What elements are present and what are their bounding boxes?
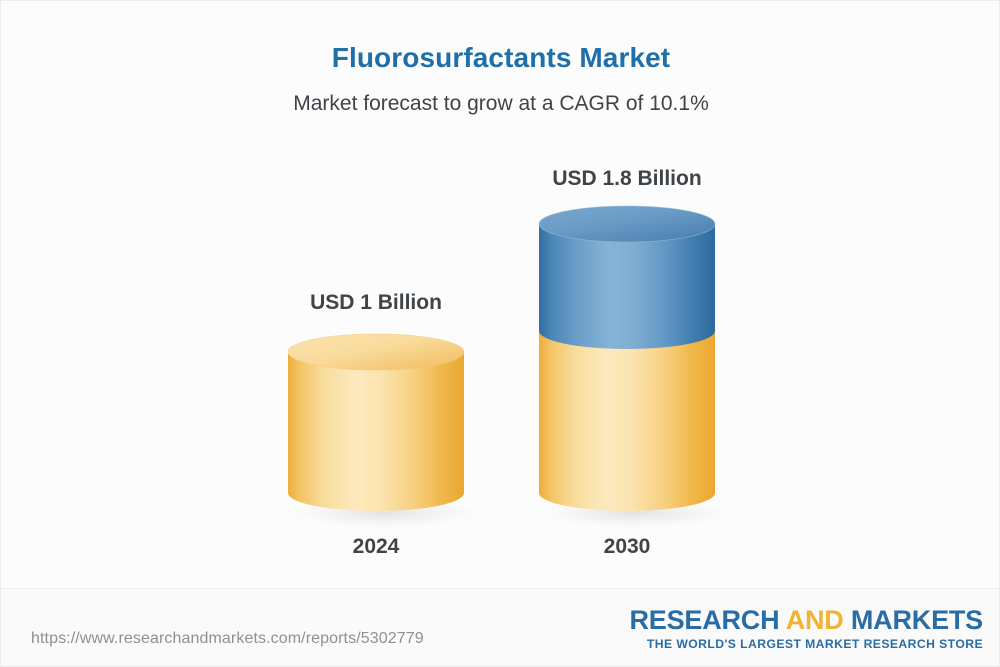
- infographic-canvas: Fluorosurfactants Market Market forecast…: [0, 0, 1000, 667]
- footer: https://www.researchandmarkets.com/repor…: [1, 588, 1000, 666]
- bar-cylinder-2024: [276, 321, 476, 531]
- bar-category-label-2030: 2030: [477, 533, 777, 561]
- chart-plot-area: USD 1 Billion: [1, 1, 1000, 601]
- research-and-markets-logo[interactable]: RESEARCH AND MARKETS THE WORLD'S LARGEST…: [629, 605, 983, 652]
- logo-wordmark: RESEARCH AND MARKETS: [629, 605, 983, 635]
- bar-value-label-2024: USD 1 Billion: [226, 289, 526, 317]
- bar-cylinder-2030: [527, 193, 727, 531]
- logo-text-markets: MARKETS: [844, 605, 983, 635]
- logo-text-and: AND: [786, 605, 844, 635]
- report-url[interactable]: https://www.researchandmarkets.com/repor…: [31, 630, 424, 648]
- bar-value-label-2030: USD 1.8 Billion: [477, 165, 777, 193]
- logo-text-research: RESEARCH: [629, 605, 785, 635]
- logo-tagline: THE WORLD'S LARGEST MARKET RESEARCH STOR…: [629, 636, 983, 652]
